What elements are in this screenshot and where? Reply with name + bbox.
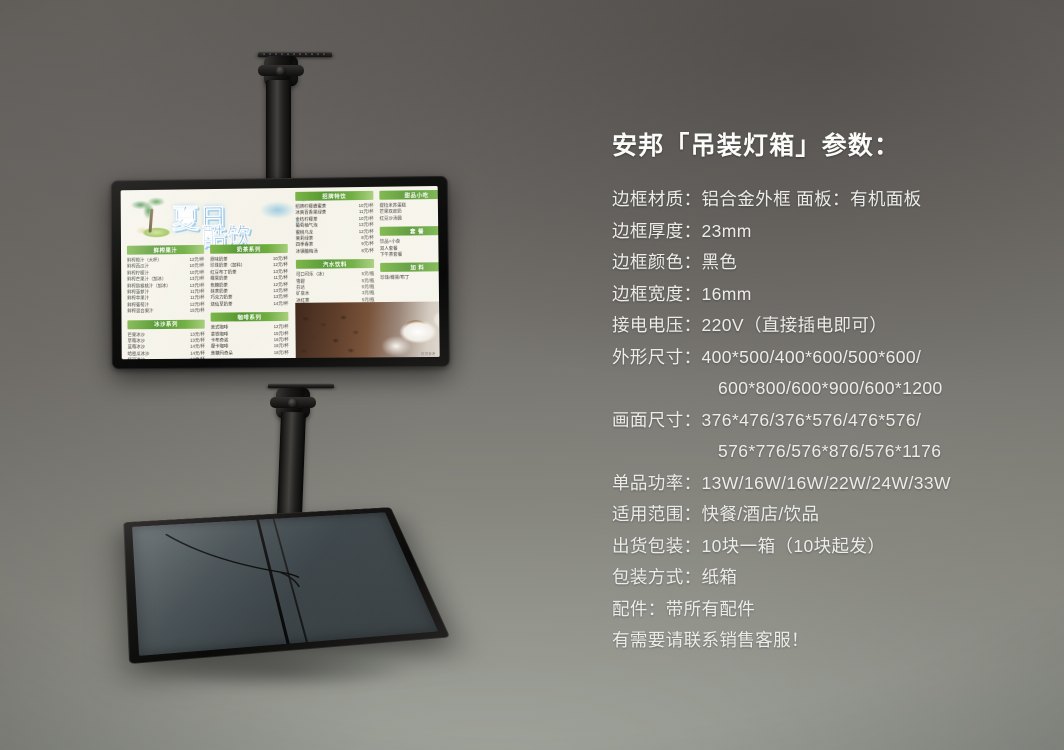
spec-line: 576*776/576*876/576*1176 bbox=[612, 436, 1042, 468]
spec-line: 画面尺寸：376*476/376*576/476*576/ bbox=[612, 405, 1042, 437]
product-photo-scene: 夏日 酷饮 鲜榨果汁鲜榨橙汁（大杯）12元/杯鲜榨西瓜汁10元/杯鲜榨柠檬汁10… bbox=[0, 0, 1064, 750]
spec-line: 适用范围：快餐/酒店/饮品 bbox=[612, 499, 1042, 531]
spec-list: 边框材质：铝合金外框 面板：有机面板边框厚度：23mm边框颜色：黑色边框宽度：1… bbox=[612, 184, 1042, 657]
spec-line: 出货包装：10块一箱（10块起发） bbox=[612, 531, 1042, 563]
spec-line: 接电电压：220V（直接插电即可） bbox=[612, 310, 1042, 342]
spec-line: 外形尺寸：400*500/400*600/500*600/ bbox=[612, 342, 1042, 374]
spec-panel: 安邦「吊装灯箱」参数： 边框材质：铝合金外框 面板：有机面板边框厚度：23mm边… bbox=[612, 126, 1042, 657]
spec-line: 配件：带所有配件 bbox=[612, 594, 1042, 626]
spec-line: 边框宽度：16mm bbox=[612, 279, 1042, 311]
spec-line: 边框厚度：23mm bbox=[612, 216, 1042, 248]
spec-line: 包装方式：纸箱 bbox=[612, 562, 1042, 594]
spec-line: 单品功率：13W/16W/16W/22W/24W/33W bbox=[612, 468, 1042, 500]
spec-line: 有需要请联系销售客服！ bbox=[612, 625, 1042, 657]
spec-title: 安邦「吊装灯箱」参数： bbox=[612, 126, 1042, 162]
spec-line: 边框材质：铝合金外框 面板：有机面板 bbox=[612, 184, 1042, 216]
spec-line: 边框颜色：黑色 bbox=[612, 247, 1042, 279]
spec-line: 600*800/600*900/600*1200 bbox=[612, 373, 1042, 405]
